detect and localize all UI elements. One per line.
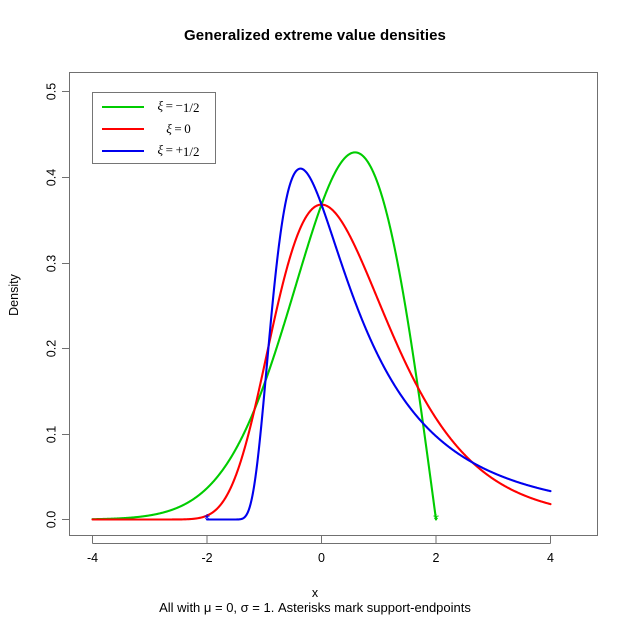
y-tick-label-0.0: 0.0 (44, 511, 58, 528)
y-tick-label-0.1: 0.1 (44, 426, 58, 443)
legend-swatch-green (102, 106, 144, 108)
legend-item-xi-neg-half: ξ = −1/2 (93, 96, 217, 118)
y-axis: 0.5 0.4 0.3 0.2 0.1 0.0 (44, 83, 69, 528)
y-axis-title: Density (7, 260, 21, 330)
x-tick-label-0: 0 (318, 551, 325, 565)
x-tick-label--2: -2 (201, 551, 212, 565)
x-tick-label-2: 2 (433, 551, 440, 565)
x-tick-label-4: 4 (547, 551, 554, 565)
y-tick-label-0.2: 0.2 (44, 340, 58, 357)
legend-label-xi-pos-half: ξ = +1/2 (144, 142, 217, 159)
legend-label-xi-zero: ξ = 0 (144, 121, 217, 137)
legend-item-xi-pos-half: ξ = +1/2 (93, 140, 217, 162)
series-layer (93, 152, 551, 519)
support-endpoint-asterisk-green: * (433, 511, 439, 528)
x-axis-title: x (0, 586, 630, 600)
x-axis: -4 -2 0 2 4 (87, 536, 554, 565)
y-tick-label-0.3: 0.3 (44, 255, 58, 272)
figure-panel: Generalized extreme value densities 0.5 … (0, 0, 630, 630)
legend: ξ = −1/2 ξ = 0 ξ = +1/2 (92, 92, 216, 164)
y-tick-label-0.5: 0.5 (44, 83, 58, 100)
legend-swatch-red (102, 128, 144, 130)
density-curve-xi-zero (93, 205, 551, 520)
legend-label-xi-neg-half: ξ = −1/2 (144, 98, 217, 115)
y-tick-label-0.4: 0.4 (44, 169, 58, 186)
chart-subtitle: All with μ = 0, σ = 1. Asterisks mark su… (0, 600, 630, 615)
density-curve-xi-neg-half (93, 152, 437, 519)
x-tick-label--4: -4 (87, 551, 98, 565)
density-curve-xi-pos-half (207, 169, 551, 520)
support-endpoint-asterisk-blue: * (204, 511, 210, 528)
legend-item-xi-zero: ξ = 0 (93, 118, 217, 140)
legend-swatch-blue (102, 150, 144, 152)
